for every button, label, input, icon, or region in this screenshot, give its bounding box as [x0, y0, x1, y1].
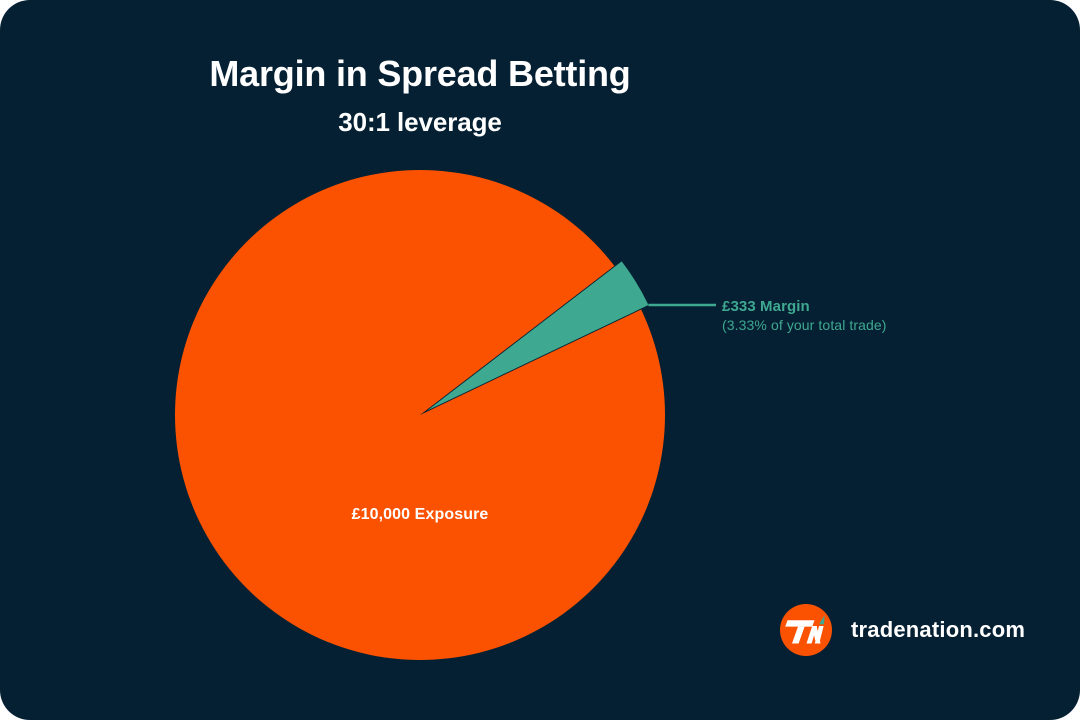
pie-slice-exposure[interactable] [175, 170, 665, 660]
exposure-slice-label: £10,000 Exposure [0, 506, 840, 524]
margin-callout-title: £333 Margin [722, 297, 887, 316]
margin-callout: £333 Margin (3.33% of your total trade) [722, 297, 887, 334]
tradenation-tn-monogram-icon [779, 603, 833, 657]
brand-wordmark: tradenation.com [851, 617, 1025, 643]
branding[interactable]: tradenation.com [779, 603, 1025, 657]
infographic-canvas: Margin in Spread Betting 30:1 leverage £… [0, 0, 1080, 720]
margin-callout-subtitle: (3.33% of your total trade) [722, 316, 887, 334]
